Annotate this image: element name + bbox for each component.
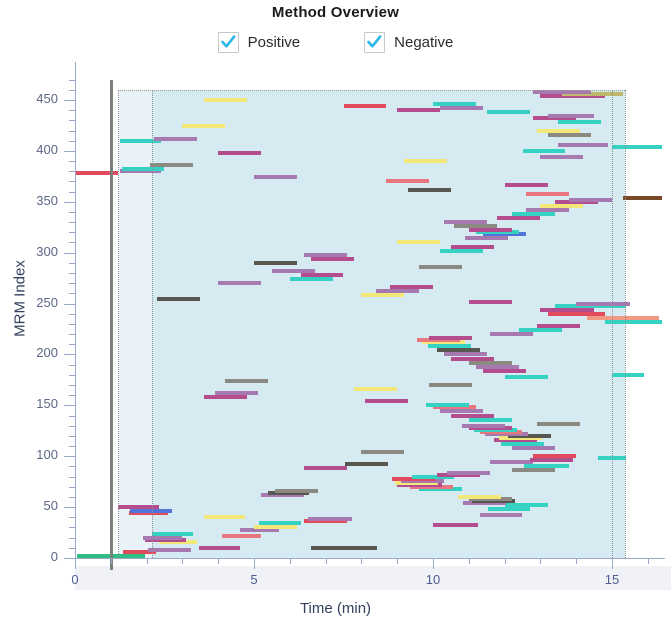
y-tick-minor (69, 395, 75, 396)
mrm-segment[interactable] (469, 300, 512, 304)
mrm-segment[interactable] (259, 521, 300, 525)
mrm-segment[interactable] (311, 546, 377, 550)
mrm-segment[interactable] (480, 513, 523, 517)
axis-footer-band (75, 566, 671, 590)
region-boundary-top (118, 90, 625, 91)
x-tick-minor (397, 558, 398, 564)
mrm-segment[interactable] (623, 196, 662, 200)
mrm-segment[interactable] (437, 348, 480, 352)
y-tick-minor (69, 446, 75, 447)
x-tick-minor (505, 558, 506, 564)
mrm-segment[interactable] (483, 369, 526, 373)
x-tick-minor (218, 558, 219, 564)
x-tick-minor (361, 558, 362, 564)
x-tick-minor (469, 558, 470, 564)
y-tick-minor (69, 232, 75, 233)
mrm-segment[interactable] (408, 188, 451, 192)
y-tick-minor (69, 466, 75, 467)
mrm-segment[interactable] (540, 155, 583, 159)
y-tick-minor (69, 527, 75, 528)
y-axis-line (75, 62, 76, 559)
y-tick-minor (69, 344, 75, 345)
mrm-segment[interactable] (143, 536, 182, 540)
y-tick-major (64, 304, 75, 305)
mrm-segment[interactable] (476, 365, 519, 369)
x-tick-minor (576, 558, 577, 564)
mrm-segment[interactable] (488, 507, 529, 511)
x-tick-minor (111, 558, 112, 564)
mrm-segment[interactable] (254, 175, 297, 179)
mrm-segment[interactable] (122, 167, 165, 171)
mrm-segment[interactable] (440, 249, 483, 253)
mrm-segment[interactable] (304, 253, 347, 257)
mrm-segment[interactable] (512, 468, 555, 472)
mrm-segment[interactable] (254, 525, 297, 529)
mrm-segment[interactable] (465, 236, 508, 240)
y-tick-label: 350 (18, 193, 58, 208)
mrm-segment[interactable] (386, 179, 429, 183)
mrm-segment[interactable] (451, 357, 494, 361)
y-tick-minor (69, 171, 75, 172)
mrm-segment[interactable] (569, 198, 612, 202)
y-tick-major (64, 253, 75, 254)
y-tick-label: 100 (18, 447, 58, 462)
chart-plot-area[interactable]: 051015050100150200250300350400450 Time (… (0, 0, 671, 636)
y-tick-minor (69, 416, 75, 417)
mrm-segment[interactable] (505, 183, 548, 187)
mrm-segment[interactable] (605, 320, 662, 324)
mrm-segment[interactable] (451, 414, 494, 418)
mrm-segment[interactable] (308, 517, 353, 521)
mrm-segment[interactable] (376, 289, 419, 293)
mrm-segment[interactable] (487, 110, 530, 114)
x-tick-major (254, 558, 255, 569)
x-tick-minor (182, 558, 183, 564)
y-tick-major (64, 456, 75, 457)
y-tick-minor (69, 477, 75, 478)
mrm-segment[interactable] (537, 324, 580, 328)
mrm-segment[interactable] (215, 391, 258, 395)
y-tick-minor (69, 497, 75, 498)
mrm-segment[interactable] (526, 208, 569, 212)
mrm-segment[interactable] (558, 120, 601, 124)
mrm-segment[interactable] (429, 383, 472, 387)
mrm-segment[interactable] (199, 546, 240, 550)
region-boundary-line-4 (625, 90, 626, 558)
mrm-segment[interactable] (530, 458, 573, 462)
mrm-segment[interactable] (182, 124, 225, 128)
x-tick-major (75, 558, 76, 569)
mrm-segment[interactable] (272, 269, 315, 273)
y-tick-label: 0 (18, 549, 58, 564)
mrm-segment[interactable] (218, 151, 261, 155)
mrm-segment[interactable] (225, 379, 268, 383)
y-tick-major (64, 507, 75, 508)
mrm-segment[interactable] (345, 462, 388, 466)
y-tick-minor (69, 334, 75, 335)
mrm-segment[interactable] (490, 332, 533, 336)
mrm-segment[interactable] (204, 515, 245, 519)
y-tick-minor (69, 436, 75, 437)
mrm-segment[interactable] (548, 133, 591, 137)
mrm-segment[interactable] (612, 145, 662, 149)
y-tick-minor (69, 181, 75, 182)
y-tick-major (64, 202, 75, 203)
y-tick-minor (69, 141, 75, 142)
mrm-segment[interactable] (540, 204, 583, 208)
mrm-segment[interactable] (512, 446, 555, 450)
mrm-segment[interactable] (148, 548, 191, 552)
y-tick-minor (69, 293, 75, 294)
mrm-segment[interactable] (433, 102, 476, 106)
mrm-segment[interactable] (361, 293, 404, 297)
region-boundary-line-1 (118, 90, 119, 558)
mrm-segment[interactable] (204, 395, 247, 399)
mrm-segment[interactable] (301, 273, 344, 277)
current-time-marker-line[interactable] (110, 80, 113, 571)
mrm-segment[interactable] (524, 464, 569, 468)
y-tick-minor (69, 314, 75, 315)
mrm-segment[interactable] (454, 224, 497, 228)
mrm-segment[interactable] (505, 503, 548, 507)
shaded-region-inner (118, 90, 152, 558)
mrm-segment[interactable] (404, 159, 447, 163)
mrm-segment[interactable] (150, 163, 193, 167)
x-tick-minor (290, 558, 291, 564)
mrm-segment[interactable] (344, 104, 387, 108)
y-tick-minor (69, 263, 75, 264)
y-tick-minor (69, 110, 75, 111)
y-tick-label: 400 (18, 142, 58, 157)
mrm-segment[interactable] (526, 192, 569, 196)
mrm-segment[interactable] (540, 308, 594, 312)
mrm-segment[interactable] (218, 281, 261, 285)
x-axis-title: Time (min) (0, 600, 671, 617)
mrm-segment[interactable] (490, 460, 533, 464)
x-tick-major (612, 558, 613, 569)
mrm-segment[interactable] (505, 375, 548, 379)
x-tick-label: 15 (592, 572, 632, 587)
x-tick-major (433, 558, 434, 569)
mrm-segment[interactable] (533, 454, 576, 458)
mrm-segment[interactable] (469, 418, 512, 422)
mrm-segment[interactable] (523, 149, 566, 153)
y-tick-minor (69, 131, 75, 132)
mrm-segment[interactable] (469, 228, 512, 232)
x-tick-label: 5 (234, 572, 274, 587)
region-boundary-line-3 (612, 90, 613, 558)
mrm-segment[interactable] (537, 422, 580, 426)
y-tick-label: 450 (18, 91, 58, 106)
x-tick-minor (147, 558, 148, 564)
mrm-segment[interactable] (440, 409, 483, 413)
mrm-segment[interactable] (558, 143, 608, 147)
x-tick-minor (540, 558, 541, 564)
mrm-segment[interactable] (354, 387, 397, 391)
mrm-segment[interactable] (612, 373, 644, 377)
mrm-segment[interactable] (537, 129, 580, 133)
mrm-segment[interactable] (254, 261, 297, 265)
mrm-segment[interactable] (361, 450, 404, 454)
mrm-segment[interactable] (512, 212, 555, 216)
y-axis-title: MRM Index (12, 224, 29, 374)
mrm-segment[interactable] (290, 277, 333, 281)
region-boundary-line-2 (152, 90, 153, 558)
y-tick-minor (69, 90, 75, 91)
mrm-segment[interactable] (311, 257, 354, 261)
y-tick-label: 50 (18, 498, 58, 513)
mrm-segment[interactable] (426, 403, 469, 407)
mrm-segment[interactable] (204, 98, 247, 102)
mrm-segment[interactable] (397, 108, 440, 112)
mrm-segment[interactable] (429, 336, 472, 340)
y-tick-minor (69, 538, 75, 539)
mrm-segment[interactable] (419, 265, 462, 269)
mrm-segment[interactable] (444, 352, 487, 356)
mrm-segment[interactable] (444, 220, 487, 224)
y-tick-minor (69, 222, 75, 223)
mrm-segment[interactable] (428, 344, 471, 348)
mrm-segment[interactable] (447, 471, 490, 475)
y-tick-minor (69, 242, 75, 243)
mrm-segment[interactable] (154, 137, 197, 141)
y-tick-minor (69, 365, 75, 366)
mrm-segment[interactable] (458, 495, 501, 499)
y-tick-minor (69, 283, 75, 284)
mrm-segment[interactable] (497, 216, 540, 220)
y-tick-minor (69, 517, 75, 518)
mrm-segment[interactable] (433, 523, 478, 527)
y-tick-minor (69, 548, 75, 549)
y-tick-minor (69, 426, 75, 427)
mrm-segment[interactable] (548, 312, 605, 316)
x-tick-minor (648, 558, 649, 564)
x-tick-minor (326, 558, 327, 564)
mrm-segment[interactable] (397, 240, 440, 244)
mrm-segment[interactable] (576, 302, 630, 306)
y-tick-major (64, 354, 75, 355)
y-tick-major (64, 405, 75, 406)
y-tick-minor (69, 375, 75, 376)
mrm-segment[interactable] (440, 106, 483, 110)
mrm-segment[interactable] (365, 399, 408, 403)
x-tick-label: 10 (413, 572, 453, 587)
mrm-segment[interactable] (462, 424, 505, 428)
mrm-segment[interactable] (275, 489, 318, 493)
y-tick-minor (69, 120, 75, 121)
y-tick-minor (69, 324, 75, 325)
mrm-segment[interactable] (157, 297, 200, 301)
mrm-segment[interactable] (451, 245, 494, 249)
mrm-segment[interactable] (519, 328, 562, 332)
y-tick-minor (69, 273, 75, 274)
y-tick-minor (69, 161, 75, 162)
y-tick-minor (69, 212, 75, 213)
mrm-segment[interactable] (469, 361, 512, 365)
mrm-segment[interactable] (501, 442, 544, 446)
y-tick-minor (69, 385, 75, 386)
y-tick-minor (69, 192, 75, 193)
y-tick-major (64, 151, 75, 152)
x-tick-label: 0 (55, 572, 95, 587)
y-tick-minor (69, 487, 75, 488)
mrm-segment[interactable] (222, 534, 261, 538)
mrm-segment[interactable] (304, 466, 347, 470)
y-tick-major (64, 100, 75, 101)
mrm-segment[interactable] (587, 316, 659, 320)
y-tick-major (64, 558, 75, 559)
mrm-segment[interactable] (152, 532, 193, 536)
y-tick-minor (69, 80, 75, 81)
mrm-segment[interactable] (548, 114, 595, 118)
y-tick-label: 150 (18, 396, 58, 411)
mrm-segment[interactable] (390, 285, 433, 289)
